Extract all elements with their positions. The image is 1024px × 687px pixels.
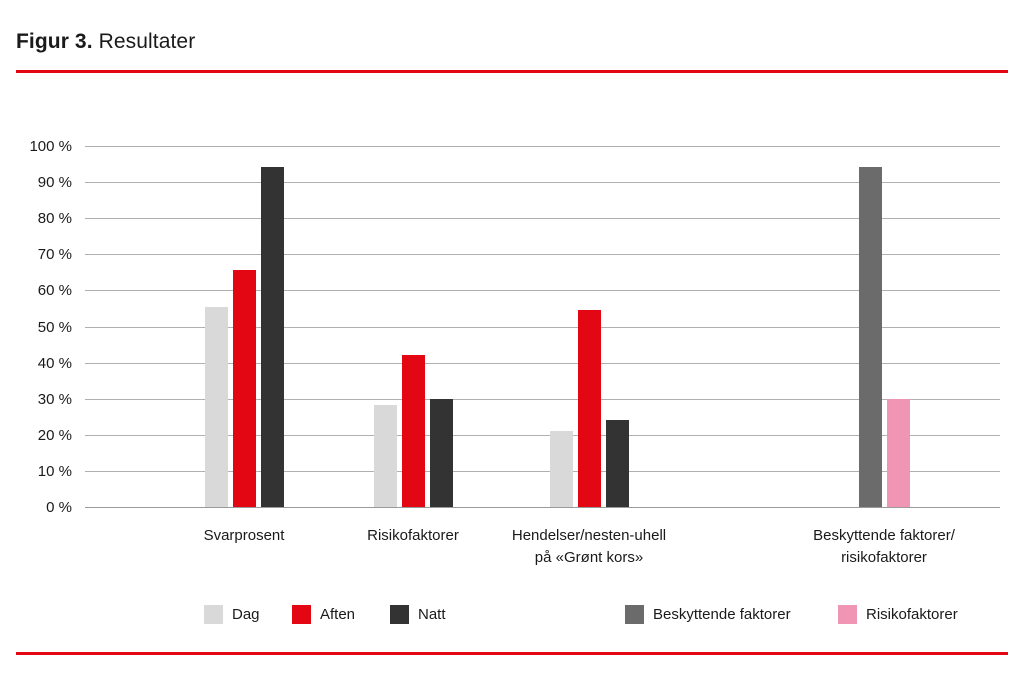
legend-swatch-icon	[625, 605, 644, 624]
figure-container: Figur 3. Resultater 100 %90 %80 %70 %60 …	[0, 0, 1024, 687]
legend-label: Dag	[232, 605, 260, 624]
y-axis-tick-labels: 100 %90 %80 %70 %60 %50 %40 %30 %20 %10 …	[10, 146, 72, 507]
figure-number: Figur 3.	[16, 30, 93, 53]
legend-swatch-icon	[390, 605, 409, 624]
x-axis-category-labels: SvarprosentRisikofaktorerHendelser/neste…	[0, 525, 1024, 585]
y-axis-tick-label: 80 %	[12, 211, 72, 226]
y-axis-tick-label: 10 %	[12, 464, 72, 479]
legend-swatch-icon	[838, 605, 857, 624]
legend-item[interactable]: Beskyttende faktorer	[625, 605, 791, 624]
y-axis-tick-label: 0 %	[12, 500, 72, 515]
header-rule	[16, 70, 1008, 73]
y-axis-tick-label: 90 %	[12, 175, 72, 190]
plot-area	[85, 146, 1000, 507]
bar	[205, 307, 228, 507]
bar	[261, 167, 284, 507]
y-axis-tick-label: 20 %	[12, 428, 72, 443]
legend-swatch-icon	[292, 605, 311, 624]
legend-label: Natt	[418, 605, 446, 624]
bar	[402, 355, 425, 507]
bar	[887, 399, 910, 507]
y-axis-tick-label: 100 %	[12, 139, 72, 154]
x-axis-label-group-4: Beskyttende faktorer/risikofaktorer	[734, 525, 1024, 569]
legend-item[interactable]: Dag	[204, 605, 260, 624]
y-axis-tick-label: 40 %	[12, 356, 72, 371]
legend-item[interactable]: Natt	[390, 605, 446, 624]
figure-title-text: Resultater	[99, 30, 196, 53]
x-axis-label-line: på «Grønt kors»	[439, 547, 739, 569]
bar	[859, 167, 882, 507]
bar-chart: 100 %90 %80 %70 %60 %50 %40 %30 %20 %10 …	[0, 100, 1024, 645]
legend-label: Beskyttende faktorer	[653, 605, 791, 624]
y-axis-tick-label: 70 %	[12, 247, 72, 262]
y-axis-tick-label: 50 %	[12, 320, 72, 335]
x-axis-label-line: Beskyttende faktorer/	[734, 525, 1024, 547]
y-axis-tick-label: 30 %	[12, 392, 72, 407]
gridline	[85, 146, 1000, 147]
x-axis-label-line: risikofaktorer	[734, 547, 1024, 569]
bar	[374, 405, 397, 507]
legend-label: Aften	[320, 605, 355, 624]
bar	[430, 399, 453, 507]
legend-label: Risikofaktorer	[866, 605, 958, 624]
chart-legend: DagAftenNattBeskyttende faktorerRisikofa…	[0, 605, 1024, 635]
page-title: Figur 3. Resultater	[16, 28, 195, 56]
bar	[550, 431, 573, 507]
bar	[233, 270, 256, 507]
y-axis-tick-label: 60 %	[12, 283, 72, 298]
bar	[578, 310, 601, 507]
legend-swatch-icon	[204, 605, 223, 624]
bar	[606, 420, 629, 507]
legend-item[interactable]: Aften	[292, 605, 355, 624]
x-axis-label-line: Hendelser/nesten-uhell	[439, 525, 739, 547]
footer-rule	[16, 652, 1008, 655]
legend-item[interactable]: Risikofaktorer	[838, 605, 958, 624]
x-axis-label-group-3: Hendelser/nesten-uhellpå «Grønt kors»	[439, 525, 739, 569]
axis-baseline	[85, 507, 1000, 508]
